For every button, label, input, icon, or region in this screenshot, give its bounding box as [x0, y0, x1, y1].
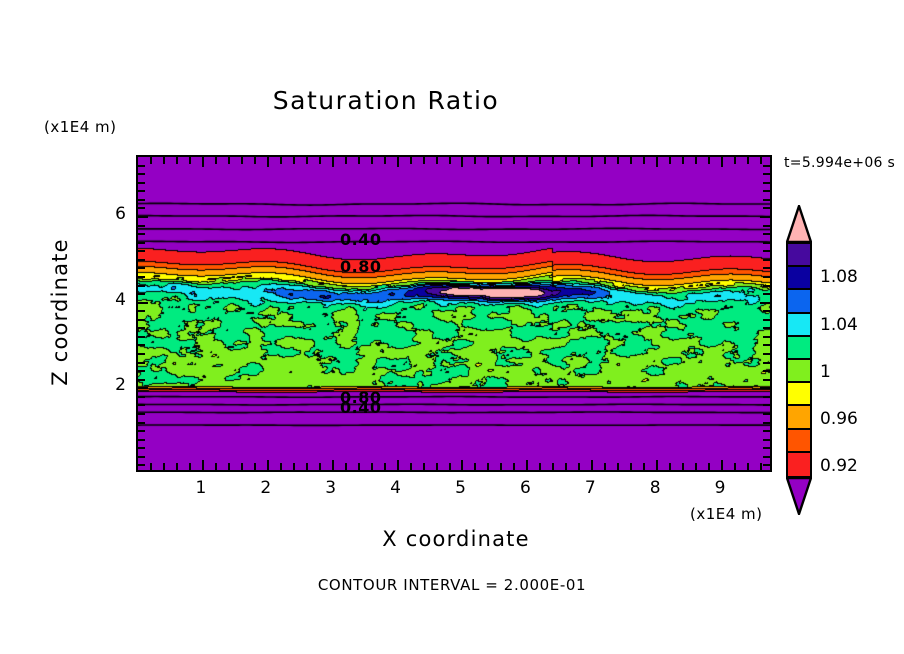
x-tick-mark — [760, 463, 762, 470]
x-tick-mark — [280, 157, 282, 164]
x-tick-mark — [410, 157, 412, 164]
x-tick-mark — [578, 463, 580, 470]
y-tick-mark — [763, 439, 770, 441]
x-tick-mark — [202, 157, 204, 167]
x-tick-mark — [423, 463, 425, 470]
x-tick-mark — [500, 463, 502, 470]
y-tick-mark — [138, 190, 145, 192]
colorbar-segment — [788, 290, 810, 313]
x-tick-mark — [617, 157, 619, 164]
x-tick-mark — [332, 157, 334, 167]
y-axis-title: Z coordinate — [48, 222, 72, 402]
y-tick-mark — [763, 413, 770, 415]
y-tick-mark — [763, 344, 770, 346]
y-tick-mark — [763, 267, 770, 269]
x-axis-title: X coordinate — [236, 527, 676, 551]
y-tick-mark — [138, 379, 145, 381]
x-tick-mark — [410, 463, 412, 470]
colorbar-segment — [788, 267, 810, 290]
x-tick-mark — [449, 463, 451, 470]
x-tick-mark — [254, 157, 256, 164]
y-tick-mark — [138, 233, 145, 235]
x-tick-label: 4 — [381, 478, 411, 498]
y-tick-mark — [138, 267, 145, 269]
y-tick-mark — [138, 413, 145, 415]
colorbar-tick-label: 0.92 — [820, 456, 858, 476]
x-tick-mark — [449, 157, 451, 164]
x-tick-mark — [345, 463, 347, 470]
y-tick-mark — [763, 293, 770, 295]
x-tick-mark — [487, 463, 489, 470]
x-tick-mark — [500, 157, 502, 164]
x-tick-label: 2 — [251, 478, 281, 498]
y-tick-mark — [138, 422, 145, 424]
x-tick-mark — [669, 463, 671, 470]
x-tick-mark — [306, 463, 308, 470]
y-tick-mark — [763, 464, 770, 466]
x-tick-mark — [747, 157, 749, 164]
x-tick-mark — [319, 157, 321, 164]
y-tick-mark — [138, 293, 145, 295]
x-tick-mark — [643, 463, 645, 470]
x-tick-mark — [760, 157, 762, 164]
y-tick-mark — [763, 404, 770, 406]
x-tick-mark — [604, 157, 606, 164]
y-tick-mark — [763, 276, 770, 278]
x-tick-mark — [474, 463, 476, 470]
x-tick-mark — [669, 157, 671, 164]
y-tick-mark — [138, 173, 145, 175]
x-tick-mark — [384, 157, 386, 164]
colorbar-tick-label: 1 — [820, 362, 831, 382]
x-tick-mark — [163, 463, 165, 470]
x-tick-label: 9 — [705, 478, 735, 498]
x-tick-mark — [565, 463, 567, 470]
y-tick-mark — [763, 370, 770, 372]
x-tick-mark — [267, 460, 269, 470]
x-tick-mark — [332, 460, 334, 470]
x-tick-label: 5 — [445, 478, 475, 498]
x-tick-mark — [695, 157, 697, 164]
x-tick-mark — [397, 460, 399, 470]
x-tick-mark — [721, 460, 723, 470]
x-tick-mark — [241, 157, 243, 164]
y-tick-mark — [138, 165, 145, 167]
x-tick-mark — [487, 157, 489, 164]
y-tick-mark — [138, 302, 148, 304]
y-tick-mark — [763, 422, 770, 424]
x-tick-mark — [565, 157, 567, 164]
y-tick-mark — [138, 344, 145, 346]
y-tick-mark — [763, 319, 770, 321]
y-tick-mark — [138, 216, 148, 218]
x-tick-mark — [228, 157, 230, 164]
x-tick-mark — [656, 460, 658, 470]
y-tick-mark — [138, 353, 145, 355]
x-tick-mark — [215, 157, 217, 164]
x-tick-mark — [526, 460, 528, 470]
x-tick-mark — [578, 157, 580, 164]
y-tick-mark — [763, 336, 770, 338]
x-tick-mark — [319, 463, 321, 470]
x-tick-label: 7 — [575, 478, 605, 498]
x-tick-mark — [189, 157, 191, 164]
y-tick-mark — [138, 430, 145, 432]
y-tick-mark — [760, 387, 770, 389]
y-axis-unit-label: (x1E4 m) — [44, 118, 117, 136]
contour-interval-caption: CONTOUR INTERVAL = 2.000E-01 — [0, 576, 904, 594]
y-tick-mark — [763, 310, 770, 312]
x-tick-mark — [397, 157, 399, 167]
x-tick-mark — [241, 463, 243, 470]
x-tick-mark — [604, 463, 606, 470]
x-tick-mark — [513, 463, 515, 470]
y-tick-mark — [138, 242, 145, 244]
colorbar-tick-label: 1.04 — [820, 315, 858, 335]
page-title: Saturation Ratio — [0, 86, 772, 115]
x-tick-mark — [254, 463, 256, 470]
time-annotation: t=5.994e+06 s — [784, 155, 895, 171]
y-tick-mark — [138, 319, 145, 321]
x-tick-mark — [539, 463, 541, 470]
x-tick-mark — [734, 157, 736, 164]
contour-level-label: 0.40 — [340, 230, 381, 249]
y-tick-mark — [138, 285, 145, 287]
y-tick-mark — [763, 327, 770, 329]
y-tick-mark — [763, 173, 770, 175]
y-tick-mark — [763, 379, 770, 381]
y-tick-mark — [138, 362, 145, 364]
x-tick-mark — [176, 157, 178, 164]
x-axis-unit-label: (x1E4 m) — [690, 505, 763, 523]
y-tick-mark — [138, 310, 145, 312]
x-tick-mark — [721, 157, 723, 167]
y-tick-mark — [138, 439, 145, 441]
y-tick-mark — [138, 336, 145, 338]
y-tick-mark — [138, 387, 148, 389]
y-tick-mark — [763, 285, 770, 287]
y-tick-mark — [138, 207, 145, 209]
x-tick-mark — [436, 157, 438, 164]
colorbar-tick-label: 0.96 — [820, 409, 858, 429]
y-tick-mark — [138, 456, 145, 458]
x-tick-mark — [461, 157, 463, 167]
y-tick-label: 4 — [100, 290, 126, 310]
colorbar-segment — [788, 314, 810, 337]
x-tick-mark — [215, 463, 217, 470]
x-tick-mark — [280, 463, 282, 470]
colorbar-over-arrow — [786, 205, 812, 243]
x-tick-mark — [552, 157, 554, 164]
x-tick-mark — [630, 157, 632, 164]
x-tick-mark — [734, 463, 736, 470]
y-tick-mark — [763, 233, 770, 235]
x-tick-mark — [306, 157, 308, 164]
colorbar-segment — [788, 244, 810, 267]
colorbar-segment — [788, 406, 810, 429]
x-tick-mark — [656, 157, 658, 167]
x-tick-mark — [526, 157, 528, 167]
colorbar-segment — [788, 337, 810, 360]
x-tick-mark — [682, 463, 684, 470]
x-tick-mark — [176, 463, 178, 470]
x-tick-mark — [384, 463, 386, 470]
x-tick-mark — [150, 463, 152, 470]
x-tick-mark — [345, 157, 347, 164]
x-tick-mark — [552, 463, 554, 470]
y-tick-mark — [763, 225, 770, 227]
y-tick-mark — [763, 199, 770, 201]
x-tick-mark — [371, 463, 373, 470]
y-tick-mark — [763, 396, 770, 398]
y-tick-mark — [763, 259, 770, 261]
y-tick-mark — [138, 464, 145, 466]
y-tick-mark — [763, 182, 770, 184]
x-tick-mark — [150, 157, 152, 164]
x-tick-mark — [643, 157, 645, 164]
y-tick-mark — [760, 216, 770, 218]
y-tick-mark — [760, 302, 770, 304]
x-tick-label: 8 — [640, 478, 670, 498]
x-tick-mark — [436, 463, 438, 470]
y-tick-mark — [138, 276, 145, 278]
x-tick-mark — [267, 157, 269, 167]
x-tick-mark — [293, 463, 295, 470]
contour-level-label: 0.80 — [340, 257, 381, 276]
colorbar: 1.081.0410.960.92 — [784, 205, 904, 515]
x-tick-mark — [358, 463, 360, 470]
y-tick-mark — [138, 327, 145, 329]
y-tick-mark — [138, 250, 145, 252]
x-tick-mark — [708, 157, 710, 164]
y-tick-mark — [763, 242, 770, 244]
x-tick-mark — [358, 157, 360, 164]
y-tick-mark — [138, 225, 145, 227]
contour-level-label: 0.40 — [340, 398, 381, 417]
x-tick-mark — [371, 157, 373, 164]
y-tick-label: 2 — [100, 375, 126, 395]
x-tick-label: 1 — [186, 478, 216, 498]
x-tick-mark — [228, 463, 230, 470]
y-tick-label: 6 — [100, 204, 126, 224]
x-tick-mark — [423, 157, 425, 164]
x-tick-mark — [591, 460, 593, 470]
x-tick-mark — [695, 463, 697, 470]
y-tick-mark — [763, 165, 770, 167]
x-tick-mark — [202, 460, 204, 470]
x-tick-mark — [539, 157, 541, 164]
x-tick-label: 3 — [316, 478, 346, 498]
contour-field-canvas — [138, 157, 772, 472]
y-tick-mark — [138, 370, 145, 372]
y-tick-mark — [763, 353, 770, 355]
x-tick-mark — [189, 463, 191, 470]
x-tick-label: 6 — [510, 478, 540, 498]
colorbar-segments — [786, 242, 812, 478]
x-tick-mark — [591, 157, 593, 167]
colorbar-segment — [788, 360, 810, 383]
y-tick-mark — [763, 190, 770, 192]
x-tick-mark — [163, 157, 165, 164]
x-tick-mark — [617, 463, 619, 470]
colorbar-segment — [788, 453, 810, 476]
contour-plot-area: 0.400.800.800.40 — [136, 155, 772, 472]
y-tick-mark — [763, 447, 770, 449]
x-tick-mark — [461, 460, 463, 470]
x-tick-mark — [513, 157, 515, 164]
y-tick-mark — [763, 456, 770, 458]
x-tick-mark — [630, 463, 632, 470]
x-tick-mark — [474, 157, 476, 164]
y-tick-mark — [763, 430, 770, 432]
colorbar-tick-label: 1.08 — [820, 267, 858, 287]
y-tick-mark — [763, 250, 770, 252]
y-tick-mark — [138, 447, 145, 449]
y-tick-mark — [138, 259, 145, 261]
y-tick-mark — [138, 404, 145, 406]
x-tick-mark — [708, 463, 710, 470]
y-tick-mark — [138, 199, 145, 201]
x-tick-mark — [747, 463, 749, 470]
y-tick-mark — [763, 362, 770, 364]
x-tick-mark — [293, 157, 295, 164]
colorbar-segment — [788, 430, 810, 453]
x-tick-mark — [682, 157, 684, 164]
colorbar-segment — [788, 383, 810, 406]
y-tick-mark — [138, 182, 145, 184]
colorbar-under-arrow — [786, 477, 812, 515]
y-tick-mark — [763, 207, 770, 209]
y-tick-mark — [138, 396, 145, 398]
